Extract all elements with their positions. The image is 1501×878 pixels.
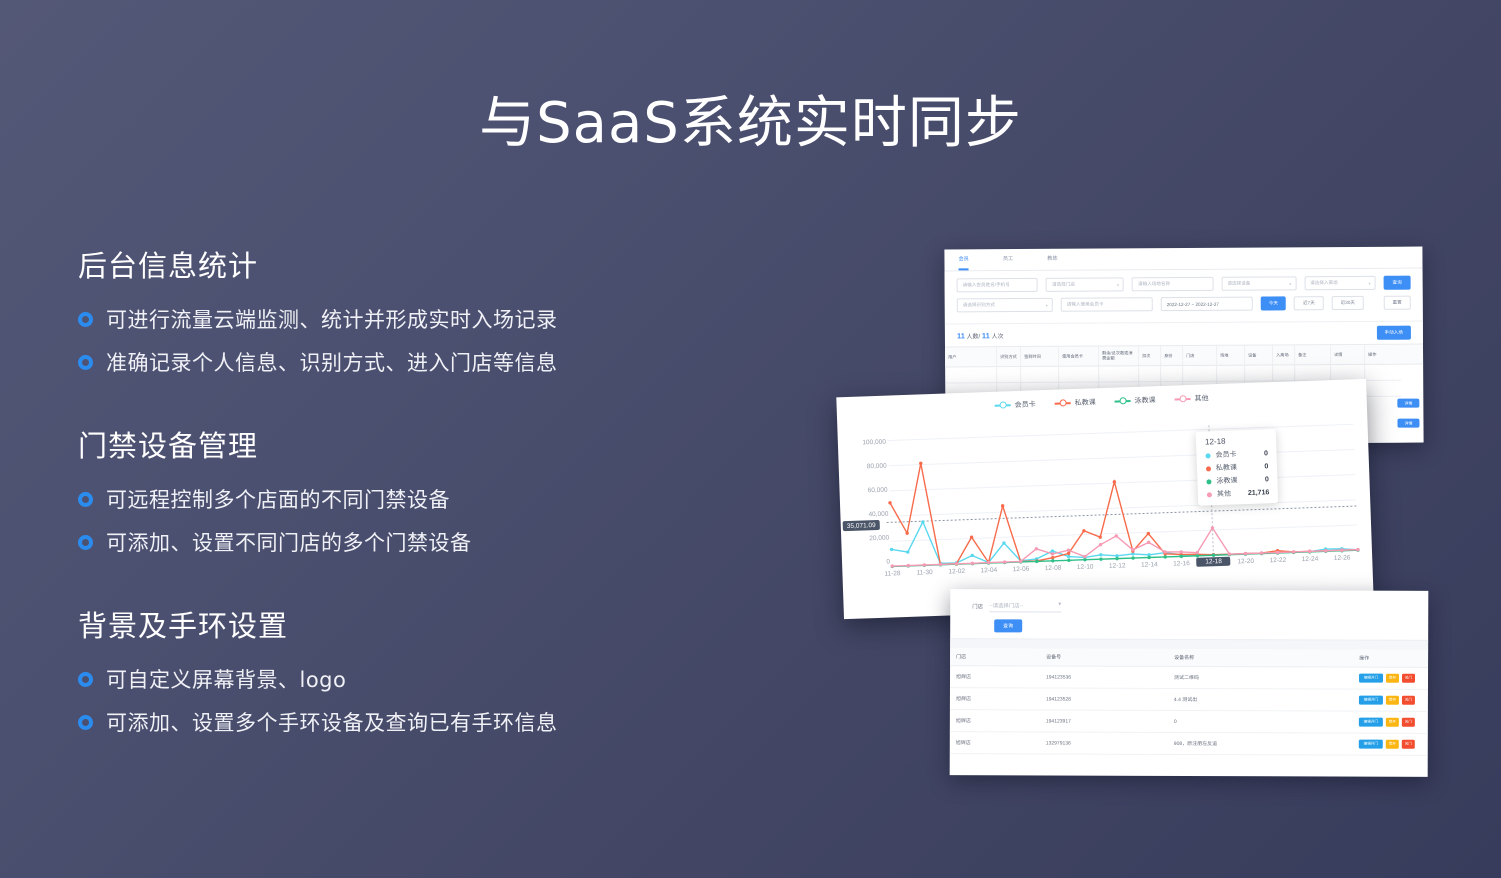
feature-bullet-label: 可远程控制多个店面的不同门禁设备: [106, 484, 450, 514]
marker-value-tag: 35,071.09: [843, 520, 880, 531]
legend-marker-icon: [995, 404, 1011, 407]
member-name-input[interactable]: 请输入会员姓名/手机号: [957, 278, 1038, 292]
x-tick-label: 12-22: [1261, 556, 1295, 564]
feature-block-1: 门禁设备管理 可远程控制多个店面的不同门禁设备 可添加、设置不同门店的多个门禁设…: [78, 423, 718, 557]
records-filters: 请输入会员姓名/手机号 请选择门店▾ 请输入场地名称 请选择设备▾ 请选择入离场…: [945, 269, 1423, 324]
x-tick-label: 12-10: [1068, 563, 1102, 571]
tooltip-series-value: 0: [1264, 450, 1268, 457]
screenshot-cluster: 会员 员工 教练 请输入会员姓名/手机号 请选择门店▾ 请输入场地名称 请选择设…: [832, 248, 1432, 778]
close-door-button[interactable]: 关门: [1402, 718, 1415, 727]
bullet-ring-icon: [78, 355, 93, 370]
close-door-button[interactable]: 关门: [1402, 740, 1415, 749]
x-tick-label: 12-16: [1164, 560, 1198, 568]
tooltip-row: 会员卡 0: [1205, 448, 1268, 460]
devices-panel: 门店 --请选择门店-- ▾ 查询 门店 设备号 设备名称 操作 旭辉店 194…: [950, 589, 1429, 777]
filter-row-2: 请选择识别方式▾ 请输入使用会员卡 2022-12-27 ~ 2022-12-2…: [957, 296, 1411, 313]
col-checkin-time: 签到时间: [1021, 347, 1059, 366]
cell-store: 旭辉店: [950, 739, 1040, 746]
tooltip-series-name: 泳教课: [1216, 475, 1242, 486]
entry-exit-select[interactable]: 请选择入离场▾: [1304, 276, 1376, 290]
cell-device-name: 908，原注册左反追: [1168, 740, 1353, 748]
tooltip-row: 私教课 0: [1206, 461, 1269, 473]
x-tick-label: 11-28: [875, 570, 909, 578]
bullet-ring-icon: [78, 535, 93, 550]
records-count-text: 11 人数/ 11 人次: [957, 331, 1004, 340]
table-row: 旭辉店 194123528 4.4 测试出 编辑开门 常开 关门: [950, 688, 1428, 712]
y-tick-label: 40,000: [848, 511, 888, 519]
table-row: 旭辉店 194123536 测试二维码 编辑开门 常开 关门: [950, 666, 1428, 690]
always-open-button[interactable]: 常开: [1386, 718, 1399, 727]
chart-panel: 会员卡 私教课 泳教课 其他 100,000 80,000 60,000 40,…: [836, 379, 1373, 619]
devices-table-header: 门店 设备号 设备名称 操作: [950, 648, 1428, 668]
chart-tooltip: 12-18 会员卡 0 私教课 0 泳教课 0: [1196, 429, 1279, 506]
y-tick-label: 0: [850, 559, 890, 567]
col-venue: 场地: [1217, 346, 1245, 365]
always-open-button[interactable]: 常开: [1386, 740, 1399, 749]
search-button[interactable]: 查询: [1384, 276, 1411, 290]
x-tick-label: 12-24: [1293, 555, 1327, 563]
tab-staff[interactable]: 员工: [1003, 255, 1013, 270]
tooltip-series-value: 21,716: [1248, 489, 1270, 497]
legend-marker-icon: [1055, 402, 1071, 405]
x-tick-label: 12-20: [1229, 558, 1263, 566]
filter-row-1: 请输入会员姓名/手机号 请选择门店▾ 请输入场地名称 请选择设备▾ 请选择入离场…: [957, 276, 1411, 293]
records-table-header: 用户 识别方式 签到时间 使用会员卡 剩余/总次数或消费金额 扣次 身份 门店 …: [945, 344, 1423, 367]
device-select[interactable]: 请选择设备▾: [1221, 276, 1296, 290]
chart-plot-area: 100,000 80,000 60,000 40,000 20,000 0 35…: [837, 398, 1373, 596]
legend-marker-icon: [1175, 398, 1191, 401]
col-detail: 详情: [1331, 345, 1365, 364]
cell-device-name: 0: [1168, 718, 1353, 725]
tab-members[interactable]: 会员: [958, 255, 968, 270]
device-store-filter-label: 门店: [972, 602, 983, 610]
feature-bullet: 可添加、设置不同门店的多个门禁设备: [78, 527, 718, 557]
close-door-button[interactable]: 关门: [1402, 674, 1415, 683]
tooltip-series-name: 其他: [1217, 488, 1243, 499]
feature-bullet: 准确记录个人信息、识别方式、进入门店等信息: [78, 347, 718, 377]
reset-button[interactable]: 重置: [1383, 296, 1410, 310]
cell-actions: 编辑开门 常开 关门: [1353, 740, 1428, 749]
cell-actions: 编辑开门 常开 关门: [1353, 696, 1428, 705]
tooltip-dot-icon: [1205, 453, 1210, 458]
always-open-button[interactable]: 常开: [1386, 696, 1399, 705]
table-row: 旭辉店 194123917 0 编辑开门 常开 关门: [950, 710, 1428, 734]
device-query-button[interactable]: 查询: [994, 619, 1022, 632]
tab-coach[interactable]: 教练: [1047, 255, 1057, 270]
col-device: 设备: [1245, 345, 1273, 364]
edit-open-door-button[interactable]: 编辑开门: [1359, 696, 1383, 705]
y-tick-label: 100,000: [846, 439, 886, 447]
col-action: 操作: [1365, 345, 1401, 364]
venue-name-input[interactable]: 请输入场地名称: [1132, 277, 1213, 291]
device-select-label: 请选择设备: [1227, 281, 1250, 287]
col-entry-exit: 入离场: [1273, 345, 1295, 364]
feature-heading: 后台信息统计: [78, 243, 718, 285]
cell-store: 旭辉店: [950, 717, 1040, 724]
bullet-ring-icon: [78, 672, 93, 687]
cell-actions: 编辑开门 常开 关门: [1353, 674, 1428, 683]
y-tick-label: 60,000: [847, 487, 887, 495]
chevron-down-icon: ▾: [1046, 302, 1048, 307]
feature-bullet-label: 可进行流量云端监测、统计并形成实时入场记录: [106, 304, 558, 334]
date-range-input[interactable]: 2022-12-27 ~ 2022-12-27: [1161, 297, 1253, 312]
store-select[interactable]: 请选择门店▾: [1046, 277, 1124, 291]
cell-device-no: 194123536: [1040, 674, 1168, 680]
col-store: 门店: [950, 648, 1040, 665]
col-deduct: 扣次: [1139, 346, 1161, 365]
feature-bullet: 可远程控制多个店面的不同门禁设备: [78, 484, 718, 514]
range-30days-button[interactable]: 近30天: [1332, 296, 1364, 310]
col-device-name: 设备名称: [1168, 649, 1353, 667]
tooltip-title: 12-18: [1205, 435, 1268, 446]
x-tick-label: 12-08: [1036, 564, 1070, 572]
legend-label: 其他: [1194, 393, 1208, 403]
feature-bullet-label: 可添加、设置多个手环设备及查询已有手环信息: [106, 707, 558, 737]
col-action: 操作: [1353, 650, 1428, 667]
bullet-ring-icon: [78, 492, 93, 507]
recognition-method-select[interactable]: 请选择识别方式▾: [957, 298, 1053, 313]
cell-device-name: 测试二维码: [1168, 674, 1353, 682]
tooltip-row: 其他 21,716: [1207, 487, 1270, 499]
edit-open-door-button[interactable]: 编辑开门: [1359, 674, 1383, 683]
feature-heading: 背景及手环设置: [78, 603, 718, 645]
chevron-down-icon: ▾: [1289, 281, 1291, 286]
x-tick-label: 12-26: [1325, 554, 1359, 562]
col-remaining: 剩余/总次数或消费金额: [1099, 346, 1139, 365]
feature-bullet-label: 准确记录个人信息、识别方式、进入门店等信息: [106, 347, 558, 377]
feature-bullet-label: 可自定义屏幕背景、logo: [106, 664, 346, 694]
cell-store: 旭辉店: [950, 695, 1040, 702]
cell-device-no: 132979136: [1040, 740, 1168, 746]
cell-device-no: 194123917: [1040, 718, 1168, 724]
range-7days-button[interactable]: 近7天: [1294, 296, 1324, 310]
bullet-ring-icon: [78, 715, 93, 730]
x-tick-label: 12-06: [1004, 565, 1038, 573]
col-store: 门店: [1183, 346, 1217, 365]
x-tick-label: 11-30: [907, 569, 941, 577]
x-tick-label: 12-18: [1196, 557, 1230, 567]
feature-bullet-label: 可添加、设置不同门店的多个门禁设备: [106, 527, 472, 557]
close-door-button[interactable]: 关门: [1402, 696, 1415, 705]
feature-list: 后台信息统计 可进行流量云端监测、统计并形成实时入场记录 准确记录个人信息、识别…: [78, 243, 718, 737]
page-title: 与SaaS系统实时同步: [0, 78, 1501, 159]
tooltip-dot-icon: [1206, 479, 1211, 484]
y-tick-label: 80,000: [847, 463, 887, 471]
col-identity: 身份: [1161, 346, 1183, 365]
tooltip-series-name: 私教课: [1216, 462, 1242, 473]
chevron-down-icon: ▾: [1369, 280, 1371, 285]
legend-marker-icon: [1115, 400, 1131, 403]
count-visits-unit: 人次: [991, 334, 1003, 340]
count-visits-value: 11: [982, 331, 990, 340]
feature-block-0: 后台信息统计 可进行流量云端监测、统计并形成实时入场记录 准确记录个人信息、识别…: [78, 243, 718, 377]
feature-bullet: 可添加、设置多个手环设备及查询已有手环信息: [78, 707, 718, 737]
membership-card-input[interactable]: 请输入使用会员卡: [1061, 297, 1153, 312]
row-detail-button[interactable]: 详情: [1397, 399, 1419, 408]
device-store-filter: 门店 --请选择门店-- ▾: [972, 599, 1414, 614]
x-tick-label: 12-14: [1132, 561, 1166, 569]
tooltip-dot-icon: [1206, 466, 1211, 471]
manual-entry-button[interactable]: 手动入场: [1376, 326, 1410, 340]
col-recognition: 识别方式: [997, 347, 1021, 366]
recognition-method-label: 请选择识别方式: [963, 302, 995, 308]
feature-block-2: 背景及手环设置 可自定义屏幕背景、logo 可添加、设置多个手环设备及查询已有手…: [78, 603, 718, 737]
edit-open-door-button[interactable]: 编辑开门: [1359, 718, 1383, 727]
feature-bullet: 可进行流量云端监测、统计并形成实时入场记录: [78, 304, 718, 334]
table-row: 旭辉店 132979136 908，原注册左反追 编辑开门 常开 关门: [950, 732, 1428, 756]
devices-filter-bar: 门店 --请选择门店-- ▾ 查询: [950, 589, 1428, 640]
bullet-ring-icon: [78, 312, 93, 327]
count-people-value: 11: [957, 331, 965, 340]
range-today-button[interactable]: 今天: [1261, 296, 1286, 310]
x-tick-label: 12-02: [940, 568, 974, 576]
col-card-used: 使用会员卡: [1059, 347, 1099, 366]
tooltip-series-value: 0: [1265, 476, 1269, 483]
x-tick-label: 12-12: [1100, 562, 1134, 570]
records-count-bar: 11 人数/ 11 人次 手动入场: [945, 321, 1423, 347]
cell-store: 旭辉店: [950, 673, 1040, 680]
device-store-select[interactable]: --请选择门店-- ▾: [989, 599, 1061, 612]
cell-actions: 编辑开门 常开 关门: [1353, 718, 1428, 727]
edit-open-door-button[interactable]: 编辑开门: [1359, 740, 1383, 749]
row-detail-button[interactable]: 详情: [1397, 419, 1419, 428]
col-device-no: 设备号: [1040, 648, 1168, 665]
y-tick-label: 20,000: [849, 535, 889, 543]
col-user: 用户: [945, 347, 997, 366]
tooltip-series-value: 0: [1264, 463, 1268, 470]
store-select-label: 请选择门店: [1052, 282, 1075, 288]
chevron-down-icon: ▾: [1117, 282, 1119, 287]
feature-bullet: 可自定义屏幕背景、logo: [78, 664, 718, 694]
device-store-select-value: --请选择门店--: [989, 601, 1023, 609]
tooltip-dot-icon: [1207, 492, 1212, 497]
feature-heading: 门禁设备管理: [78, 423, 718, 465]
tooltip-series-name: 会员卡: [1215, 449, 1241, 460]
col-remark: 备注: [1295, 345, 1331, 364]
tooltip-row: 泳教课 0: [1206, 474, 1269, 486]
cell-device-no: 194123528: [1040, 696, 1168, 702]
count-people-unit: 人数/: [967, 334, 981, 340]
records-tabbar: 会员 员工 教练: [944, 247, 1422, 272]
x-tick-label: 12-04: [972, 567, 1006, 575]
always-open-button[interactable]: 常开: [1386, 674, 1399, 683]
entry-exit-select-label: 请选择入离场: [1310, 280, 1338, 286]
chevron-down-icon: ▾: [1058, 602, 1061, 610]
cell-device-name: 4.4 测试出: [1168, 696, 1353, 704]
